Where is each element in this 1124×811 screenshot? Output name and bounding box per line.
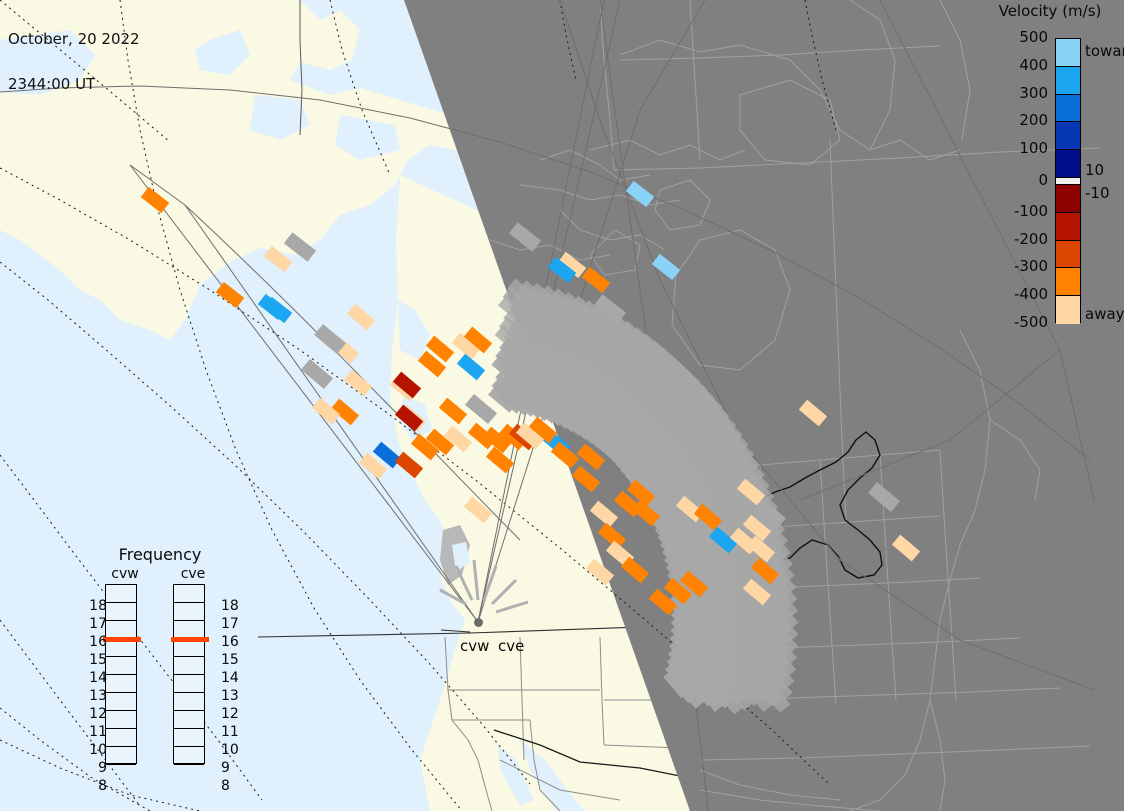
frequency-segment [174,585,204,603]
colorbar-band [1056,213,1080,241]
frequency-scale-label: 13 [89,691,107,701]
colorbar-band [1056,296,1080,324]
frequency-segment [106,729,136,747]
radar-site-label-cvw: cvw [460,637,489,655]
frequency-segment [174,693,204,711]
colorbar-tick: 400 [1019,60,1048,70]
frequency-scale-label: 15 [221,655,239,665]
frequency-scale-label: 13 [221,691,239,701]
radar-site-label-cve: cve [498,637,524,655]
frequency-title: Frequency [85,545,235,564]
colorbar-tick: 500 [1019,32,1048,42]
timestamp-time: 2344:00 UT [8,77,140,92]
frequency-segment [174,729,204,747]
colorbar-title: Velocity (m/s) [980,2,1120,20]
colorbar-band [1056,178,1080,185]
colorbar-tick: 0 [1038,175,1048,185]
frequency-segment [174,657,204,675]
frequency-segment [106,711,136,729]
frequency-legend: Frequency cvw18171615141312111098cve1817… [85,545,235,790]
frequency-segment [174,603,204,621]
frequency-scale-label: 18 [89,601,107,611]
colorbar-tick: -200 [1014,234,1048,244]
frequency-bar [173,584,205,764]
frequency-segment [174,747,204,765]
colorbar-tick-labels: 5004003002001000-100-200-300-400-500 [980,38,1048,323]
frequency-segment [174,711,204,729]
colorbar-tick: 200 [1019,115,1048,125]
frequency-segment [106,747,136,765]
frequency-scale-label: 10 [221,745,239,755]
frequency-segment [174,675,204,693]
frequency-column-cve: cve18171615141312111098 [173,567,213,764]
frequency-scale-labels: 18171615141312111098 [85,606,107,786]
frequency-scale-label: 12 [221,709,239,719]
frequency-scale-labels: 18171615141312111098 [221,606,243,786]
colorbar-toward-label: toward [1085,46,1124,56]
colorbar-band [1056,241,1080,269]
colorbar-gradient [1055,38,1081,323]
frequency-radar-name: cvw [105,567,145,581]
frequency-scale-label: 18 [221,601,239,611]
timestamp-date: October, 20 2022 [8,32,140,47]
colorbar-band [1056,268,1080,296]
colorbar-band [1056,39,1080,67]
frequency-column-cvw: cvw18171615141312111098 [105,567,145,764]
colorbar-tick: -500 [1014,317,1048,327]
colorbar-plus-ten-label: 10 [1085,165,1104,175]
frequency-scale-label: 9 [221,763,230,773]
colorbar-tick: -300 [1014,261,1048,271]
frequency-scale-label: 15 [89,655,107,665]
frequency-marker [103,637,141,642]
frequency-scale-label: 12 [89,709,107,719]
timestamp: October, 20 2022 2344:00 UT [8,2,140,122]
frequency-scale-label: 17 [89,619,107,629]
frequency-segment [106,675,136,693]
colorbar-tick: 300 [1019,88,1048,98]
frequency-segment [106,657,136,675]
superdarn-fan-plot: October, 20 2022 2344:00 UT Velocity (m/… [0,0,1124,811]
frequency-segment [106,693,136,711]
colorbar-band [1056,185,1080,213]
frequency-scale-label: 11 [221,727,239,737]
frequency-marker [171,637,209,642]
colorbar-tick: 100 [1019,143,1048,153]
frequency-scale-label: 9 [98,763,107,773]
colorbar-band [1056,122,1080,150]
colorbar-tick: -400 [1014,289,1048,299]
frequency-segment [106,603,136,621]
frequency-segment [106,585,136,603]
colorbar-away-label: away [1085,309,1124,319]
colorbar-band [1056,95,1080,123]
radar-site-dot [474,618,483,627]
frequency-bar [105,584,137,764]
colorbar-band [1056,150,1080,178]
frequency-scale-label: 16 [89,637,107,647]
frequency-scale-label: 11 [89,727,107,737]
frequency-scale-label: 8 [221,781,230,791]
frequency-scale-label: 14 [221,673,239,683]
frequency-radar-name: cve [173,567,213,581]
colorbar-minus-ten-label: -10 [1085,188,1110,198]
frequency-scale-label: 17 [221,619,239,629]
frequency-scale-label: 16 [221,637,239,647]
frequency-scale-label: 10 [89,745,107,755]
colorbar-tick: -100 [1014,206,1048,216]
colorbar-band [1056,67,1080,95]
colorbar-side-labels: toward10-10away [1085,38,1124,323]
velocity-colorbar: Velocity (m/s) 5004003002001000-100-200-… [980,0,1124,340]
frequency-scale-label: 14 [89,673,107,683]
frequency-scale-label: 8 [98,781,107,791]
